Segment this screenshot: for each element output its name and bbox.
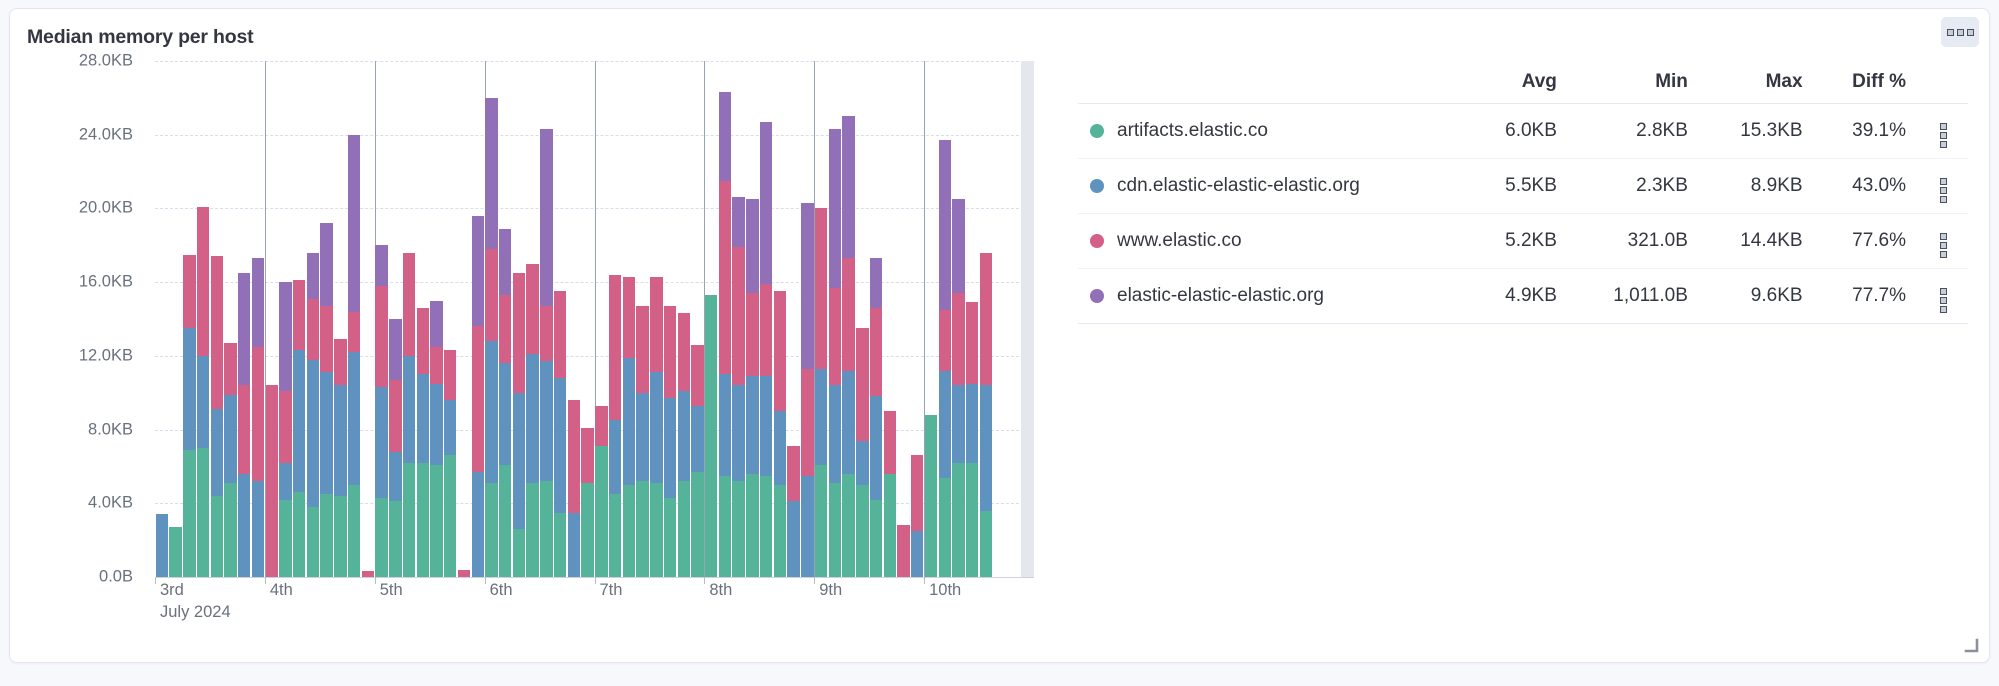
bar-segment-1 [156, 514, 168, 577]
bar-segment-3 [540, 129, 552, 306]
bar-segment-1 [472, 472, 484, 577]
stacked-bar[interactable] [719, 92, 731, 577]
stacked-bar[interactable] [774, 291, 786, 577]
x-axis-tick-label: 3rd [160, 581, 184, 600]
bar-segment-0 [664, 498, 676, 577]
bar-segment-1 [760, 376, 772, 476]
chart-area: 28.0KB24.0KB20.0KB16.0KB12.0KB8.0KB4.0KB… [27, 61, 1037, 641]
bar-segment-0 [691, 472, 703, 577]
bar-segment-3 [829, 129, 841, 287]
bar-segment-3 [746, 199, 758, 293]
bar-segment-0 [870, 500, 882, 577]
bar-segment-0 [829, 483, 841, 577]
stacked-bar[interactable] [801, 203, 813, 577]
bar-segment-0 [884, 474, 896, 577]
stacked-bar[interactable] [526, 264, 538, 577]
table-row[interactable]: elastic-elastic-elastic.org4.9KB1,011.0B… [1078, 269, 1968, 324]
bar-segment-3 [801, 203, 813, 369]
bar-segment-1 [829, 385, 841, 483]
table-row[interactable]: cdn.elastic-elastic-elastic.org5.5KB2.3K… [1078, 159, 1968, 214]
bar-segment-2 [389, 380, 401, 452]
bar-segment-0 [526, 483, 538, 577]
bar-segment-1 [334, 385, 346, 496]
y-axis-tick-label: 28.0KB [79, 52, 133, 71]
bar-segment-1 [554, 378, 566, 513]
bar-segment-0 [719, 476, 731, 577]
stacked-bar[interactable] [966, 302, 978, 577]
bar-segment-1 [774, 411, 786, 485]
x-axis-tick-label: 10th [929, 581, 961, 600]
bar-segment-2 [870, 308, 882, 396]
stacked-bar[interactable] [403, 253, 415, 577]
bar-segment-0 [842, 474, 854, 577]
stacked-bar[interactable] [650, 277, 662, 577]
stacked-bar[interactable] [980, 253, 992, 577]
column-header-avg[interactable]: Avg [1468, 69, 1569, 104]
bar-segment-2 [224, 343, 236, 395]
bar-segment-2 [375, 286, 387, 387]
bar-segment-1 [403, 356, 415, 463]
stacked-bar[interactable] [197, 207, 209, 577]
stacked-bar[interactable] [430, 301, 442, 577]
bar-segment-2 [334, 339, 346, 385]
stacked-bar[interactable] [705, 295, 717, 577]
stacked-bar[interactable] [389, 319, 401, 577]
legend-series-cell[interactable]: elastic-elastic-elastic.org [1078, 269, 1468, 324]
bar-segment-2 [595, 406, 607, 447]
bar-segment-2 [458, 570, 470, 577]
bar-segment-3 [842, 116, 854, 258]
stacked-bar[interactable] [815, 208, 827, 577]
table-row[interactable]: artifacts.elastic.co6.0KB2.8KB15.3KB39.1… [1078, 104, 1968, 159]
bar-segment-0 [623, 485, 635, 577]
bar-segment-1 [485, 341, 497, 483]
bar-segment-2 [252, 347, 264, 482]
stacked-bar[interactable] [911, 455, 923, 577]
stacked-bar[interactable] [897, 525, 909, 577]
stacked-bar[interactable] [760, 122, 772, 577]
bar-segment-0 [183, 450, 195, 577]
stacked-bar[interactable] [664, 306, 676, 577]
stacked-bar[interactable] [787, 446, 799, 577]
bar-segment-1 [430, 384, 442, 465]
bar-segment-3 [252, 258, 264, 346]
bar-segment-2 [211, 256, 223, 409]
series-label: www.elastic.co [1117, 230, 1242, 252]
bar-segment-2 [609, 275, 621, 421]
bar-segment-2 [513, 273, 525, 393]
bar-segment-2 [966, 302, 978, 383]
bar-segment-1 [375, 387, 387, 498]
bar-segment-0 [925, 415, 937, 577]
bar-segment-3 [485, 98, 497, 249]
y-axis-tick-label: 8.0KB [88, 420, 133, 439]
bar-segment-2 [472, 326, 484, 472]
stacked-bar[interactable] [623, 277, 635, 577]
stacked-bar[interactable] [884, 411, 896, 577]
bar-segment-1 [870, 396, 882, 499]
partial-bucket-shading [1021, 61, 1034, 577]
bar-segment-0 [581, 483, 593, 577]
y-axis: 28.0KB24.0KB20.0KB16.0KB12.0KB8.0KB4.0KB… [27, 61, 139, 581]
column-header-min[interactable]: Min [1569, 69, 1700, 104]
bar-segment-2 [183, 255, 195, 329]
stacked-bar[interactable] [829, 129, 841, 577]
y-axis-tick-label: 24.0KB [79, 125, 133, 144]
y-axis-tick-label: 20.0KB [79, 199, 133, 218]
stacked-bar[interactable] [266, 385, 278, 577]
bar-segment-1 [691, 406, 703, 472]
bar-segment-0 [609, 494, 621, 577]
bar-segment-0 [980, 511, 992, 577]
bar-segment-2 [526, 264, 538, 354]
stacked-bar[interactable] [472, 216, 484, 577]
stacked-bar[interactable] [925, 415, 937, 577]
bar-segment-0 [705, 295, 717, 577]
stacked-bar[interactable] [499, 229, 511, 577]
bar-segment-3 [348, 135, 360, 312]
column-header-handle [1918, 69, 1968, 104]
bar-segment-2 [554, 291, 566, 378]
cell-avg: 4.9KB [1468, 269, 1569, 324]
bar-segment-0 [760, 476, 772, 577]
bar-segment-1 [939, 371, 951, 478]
bar-segment-0 [389, 501, 401, 577]
y-axis-tick-label: 16.0KB [79, 273, 133, 292]
bar-segment-0 [952, 463, 964, 577]
stacked-bar[interactable] [952, 199, 964, 577]
stacked-bar[interactable] [636, 306, 648, 577]
bar-segment-2 [664, 306, 676, 398]
stacked-bar[interactable] [870, 258, 882, 577]
bar-segment-1 [307, 360, 319, 507]
bar-segment-0 [348, 485, 360, 577]
bar-segment-0 [485, 483, 497, 577]
bar-segment-1 [320, 372, 332, 494]
x-axis-tickmark [265, 577, 266, 584]
x-axis-tickmark [375, 577, 376, 584]
y-axis-tick-label: 0.0B [99, 568, 133, 587]
bar-segment-0 [856, 485, 868, 577]
bar-segment-0 [211, 496, 223, 577]
series-color-dot [1090, 289, 1104, 303]
bar-segment-2 [430, 347, 442, 384]
stacked-bar[interactable] [856, 328, 868, 577]
x-axis-tick-label: 5th [380, 581, 403, 600]
resize-corner-icon[interactable] [1963, 638, 1979, 654]
bar-segment-1 [197, 356, 209, 448]
bar-segment-2 [842, 258, 854, 370]
bar-segment-2 [815, 208, 827, 368]
column-header-max[interactable]: Max [1700, 69, 1815, 104]
stacked-bar[interactable] [540, 129, 552, 577]
bar-segment-0 [279, 500, 291, 577]
bar-segment-2 [444, 350, 456, 400]
bar-segment-1 [856, 441, 868, 485]
bar-segment-0 [293, 492, 305, 577]
bar-segment-3 [732, 197, 744, 247]
x-axis-tick-label: 4th [270, 581, 293, 600]
drag-handle-icon[interactable] [1940, 288, 1947, 313]
bar-segment-0 [169, 527, 181, 577]
cell-min: 321.0B [1569, 214, 1700, 269]
bar-segment-3 [499, 229, 511, 295]
menu-square-2 [1957, 29, 1964, 36]
bar-segment-2 [623, 277, 635, 358]
bar-segment-3 [760, 122, 772, 284]
bar-segment-1 [513, 393, 525, 529]
drag-handle-icon[interactable] [1940, 233, 1947, 258]
x-axis-tickmark [814, 577, 815, 584]
bar-segment-2 [307, 299, 319, 360]
stacked-bar[interactable] [458, 570, 470, 577]
stacked-bar[interactable] [746, 199, 758, 577]
bar-segment-2 [417, 308, 429, 374]
bar-segment-0 [774, 485, 786, 577]
cell-avg: 5.2KB [1468, 214, 1569, 269]
bar-segment-0 [197, 448, 209, 577]
bar-segment-2 [499, 295, 511, 363]
bar-segment-3 [389, 319, 401, 380]
stacked-bar[interactable] [348, 135, 360, 577]
legend-header-row: Avg Min Max Diff % [1078, 69, 1968, 104]
stacked-bar[interactable] [375, 245, 387, 577]
bar-segment-2 [939, 310, 951, 371]
bar-segment-1 [842, 371, 854, 474]
cell-max: 15.3KB [1700, 104, 1815, 159]
bar-segment-1 [211, 409, 223, 496]
stacked-bar[interactable] [732, 197, 744, 577]
row-drag-handle-cell[interactable] [1918, 159, 1968, 214]
stacked-bar[interactable] [320, 223, 332, 577]
median-memory-panel: Median memory per host 28.0KB24.0KB20.0K… [9, 8, 1990, 663]
bar-segment-2 [829, 288, 841, 386]
column-header-diff[interactable]: Diff % [1815, 69, 1918, 104]
bar-segment-0 [403, 463, 415, 577]
stacked-bar[interactable] [581, 428, 593, 577]
bar-segment-0 [650, 483, 662, 577]
series-label: cdn.elastic-elastic-elastic.org [1117, 175, 1360, 197]
bar-segment-1 [952, 385, 964, 462]
bar-segment-2 [636, 306, 648, 393]
bar-segment-0 [732, 481, 744, 577]
column-header-series[interactable] [1078, 69, 1468, 104]
bar-segment-3 [939, 140, 951, 310]
stacked-bar[interactable] [238, 273, 250, 577]
legend-body: artifacts.elastic.co6.0KB2.8KB15.3KB39.1… [1078, 104, 1968, 324]
bar-segment-0 [636, 481, 648, 577]
series-color-dot [1090, 124, 1104, 138]
x-axis-tickmark [595, 577, 596, 584]
bar-segment-2 [774, 291, 786, 411]
bar-segment-2 [952, 293, 964, 385]
bar-segment-2 [911, 455, 923, 531]
bar-segment-1 [787, 501, 799, 577]
stacked-bar[interactable] [485, 98, 497, 577]
bar-segment-0 [513, 529, 525, 577]
series-label: artifacts.elastic.co [1117, 120, 1268, 142]
y-axis-tick-label: 12.0KB [79, 346, 133, 365]
bar-segment-0 [320, 494, 332, 577]
stacked-bar[interactable] [279, 282, 291, 577]
panel-actions-icon[interactable] [1941, 17, 1979, 47]
bar-segment-3 [870, 258, 882, 308]
x-axis-tick-label: 8th [709, 581, 732, 600]
y-axis-tick-label: 4.0KB [88, 494, 133, 513]
bar-segment-1 [526, 354, 538, 483]
stacked-bar[interactable] [691, 345, 703, 577]
bar-segment-3 [952, 199, 964, 293]
bar-segment-1 [966, 384, 978, 463]
bar-segment-0 [746, 474, 758, 577]
bar-segment-1 [719, 374, 731, 475]
bar-segment-0 [375, 498, 387, 577]
bar-segment-1 [224, 395, 236, 483]
drag-handle-icon[interactable] [1940, 123, 1947, 148]
x-axis-tickmark [155, 577, 156, 584]
cell-diff: 77.6% [1815, 214, 1918, 269]
bar-segment-3 [472, 216, 484, 327]
cell-avg: 6.0KB [1468, 104, 1569, 159]
bar-segment-2 [691, 345, 703, 406]
stacked-bar[interactable] [156, 514, 168, 577]
bar-segment-1 [568, 513, 580, 578]
bar-segment-2 [581, 428, 593, 483]
bar-segment-2 [485, 249, 497, 341]
bar-segment-0 [444, 455, 456, 577]
cell-diff: 39.1% [1815, 104, 1918, 159]
drag-handle-icon[interactable] [1940, 178, 1947, 203]
table-row[interactable]: www.elastic.co5.2KB321.0B14.4KB77.6% [1078, 214, 1968, 269]
bar-segment-0 [307, 507, 319, 577]
stacked-bar[interactable] [678, 313, 690, 577]
bar-segment-0 [595, 446, 607, 577]
bar-segment-3 [719, 92, 731, 180]
bar-segment-3 [238, 273, 250, 385]
bar-segment-0 [540, 481, 552, 577]
bar-segment-2 [801, 369, 813, 476]
bar-segment-1 [650, 372, 662, 483]
bar-segment-3 [430, 301, 442, 347]
bar-segment-2 [348, 312, 360, 353]
stacked-bar[interactable] [568, 400, 580, 577]
stacked-bar[interactable] [334, 339, 346, 577]
bar-segment-3 [307, 253, 319, 299]
bar-segment-1 [279, 463, 291, 500]
legend-series-cell[interactable]: www.elastic.co [1078, 214, 1468, 269]
stacked-bar[interactable] [169, 527, 181, 577]
stacked-bar[interactable] [595, 406, 607, 577]
series-color-dot [1090, 179, 1104, 193]
bar-segment-2 [884, 411, 896, 474]
bar-segment-0 [966, 463, 978, 577]
stacked-bar[interactable] [444, 350, 456, 577]
plot-canvas[interactable] [155, 61, 1034, 577]
bar-segment-1 [348, 352, 360, 485]
legend-series-cell[interactable]: cdn.elastic-elastic-elastic.org [1078, 159, 1468, 214]
cell-avg: 5.5KB [1468, 159, 1569, 214]
x-axis-sublabel: July 2024 [160, 603, 231, 622]
bar-segment-1 [417, 374, 429, 462]
dashboard-root: Median memory per host 28.0KB24.0KB20.0K… [0, 0, 1999, 686]
bar-segment-1 [678, 391, 690, 481]
bar-segment-1 [636, 393, 648, 481]
bar-segment-1 [183, 328, 195, 450]
bar-segment-2 [540, 306, 552, 361]
bar-segment-2 [197, 207, 209, 356]
panel-header: Median memory per host [10, 9, 1989, 57]
series-color-dot [1090, 234, 1104, 248]
stacked-bar[interactable] [609, 275, 621, 577]
legend-table-container: Avg Min Max Diff % artifacts.elastic.co6… [1078, 69, 1968, 324]
bar-segment-2 [746, 293, 758, 376]
row-drag-handle-cell[interactable] [1918, 104, 1968, 159]
bar-segment-2 [293, 280, 305, 350]
stacked-bar[interactable] [939, 140, 951, 577]
legend-series-cell[interactable]: artifacts.elastic.co [1078, 104, 1468, 159]
stacked-bar[interactable] [293, 280, 305, 577]
bar-segment-2 [732, 247, 744, 385]
bar-segment-2 [856, 328, 868, 440]
bar-segment-1 [238, 474, 250, 577]
bar-segment-2 [760, 284, 772, 376]
stacked-bar[interactable] [224, 343, 236, 577]
x-axis-tick-label: 7th [600, 581, 623, 600]
stacked-bar[interactable] [554, 291, 566, 577]
bar-segment-2 [403, 253, 415, 356]
row-drag-handle-cell[interactable] [1918, 214, 1968, 269]
series-label: elastic-elastic-elastic.org [1117, 285, 1324, 307]
x-axis-tickmark [924, 577, 925, 584]
bar-segment-1 [623, 358, 635, 485]
stacked-bar[interactable] [513, 273, 525, 577]
bar-segment-2 [678, 313, 690, 390]
bar-segment-1 [540, 361, 552, 481]
cell-diff: 77.7% [1815, 269, 1918, 324]
bar-segment-3 [375, 245, 387, 286]
bar-segment-1 [444, 400, 456, 455]
stacked-bar[interactable] [307, 253, 319, 577]
stacked-bar[interactable] [183, 255, 195, 578]
x-axis-tick-label: 6th [490, 581, 513, 600]
cell-min: 2.3KB [1569, 159, 1700, 214]
x-axis-tick-label: 9th [819, 581, 842, 600]
stacked-bar[interactable] [211, 256, 223, 577]
bar-segment-2 [719, 181, 731, 375]
row-drag-handle-cell[interactable] [1918, 269, 1968, 324]
stacked-bar[interactable] [417, 308, 429, 577]
bar-segment-2 [787, 446, 799, 501]
x-axis-tickmark [704, 577, 705, 584]
stacked-bar[interactable] [842, 116, 854, 577]
bar-segment-1 [664, 398, 676, 498]
bar-segment-2 [568, 400, 580, 512]
cell-diff: 43.0% [1815, 159, 1918, 214]
cell-min: 2.8KB [1569, 104, 1700, 159]
bar-segment-1 [746, 376, 758, 474]
bar-segment-0 [417, 463, 429, 577]
bar-segment-0 [939, 478, 951, 578]
cell-max: 8.9KB [1700, 159, 1815, 214]
x-axis: 3rd4th5th6th7th8th9th10thJuly 2024 [155, 577, 1034, 641]
bar-segment-2 [320, 306, 332, 372]
bar-segment-2 [650, 277, 662, 373]
bar-segment-0 [430, 465, 442, 577]
cell-min: 1,011.0B [1569, 269, 1700, 324]
bar-segment-2 [897, 525, 909, 577]
bar-segment-0 [554, 513, 566, 578]
stacked-bar[interactable] [252, 258, 264, 577]
